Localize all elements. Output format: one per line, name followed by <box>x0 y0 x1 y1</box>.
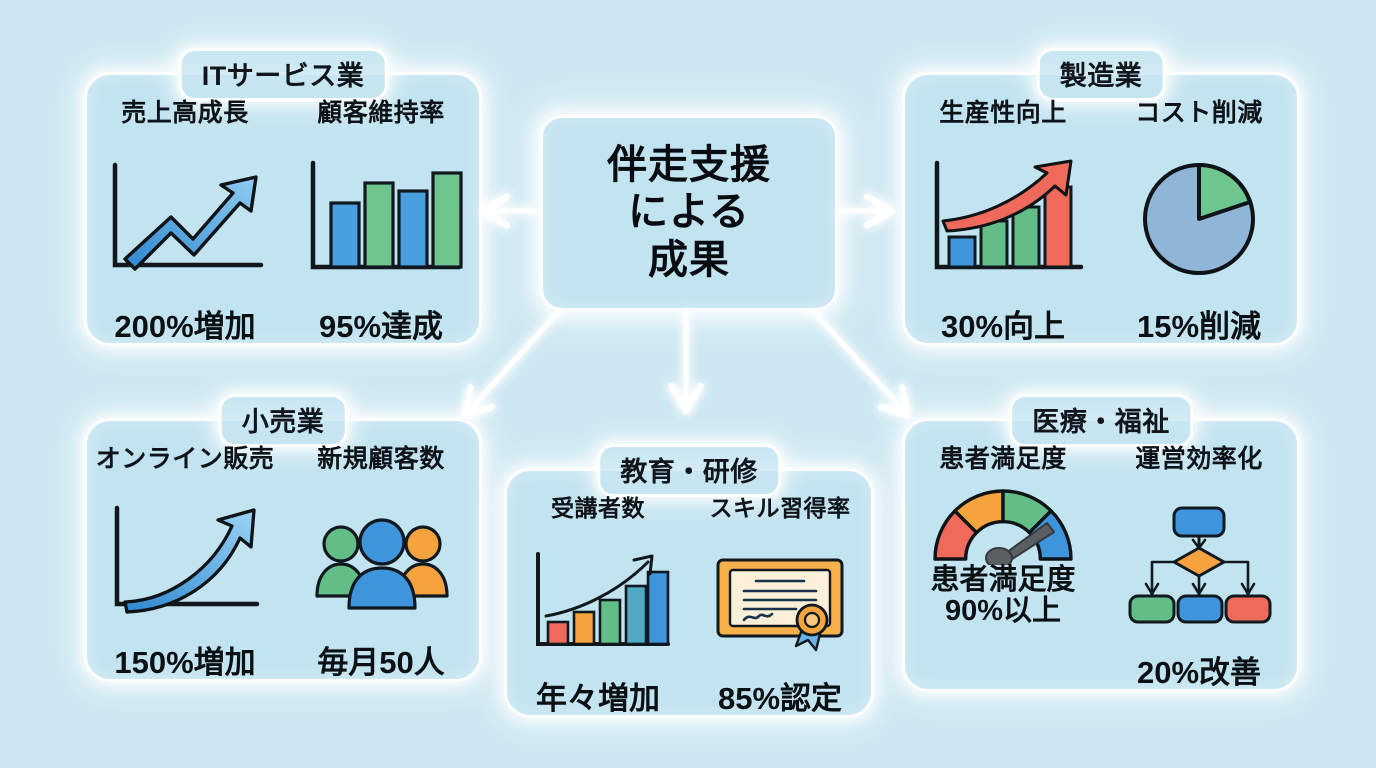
metric-skill-acquisition: スキル習得率 <box>689 471 871 715</box>
zigzag-up-arrow-line-chart-icon <box>87 129 283 310</box>
metric-new-customers: 新規顧客数 <box>283 421 479 679</box>
metric-label-operational-efficiency: 運営効率化 <box>1135 439 1263 475</box>
certificate-award-icon <box>689 523 871 682</box>
infographic-canvas: 伴走支援 による 成果 ITサービス業 売上高成長 <box>0 0 1376 768</box>
panel-healthcare[interactable]: 医療・福祉 患者満足度 <box>902 418 1300 692</box>
panel-manufacturing[interactable]: 製造業 生産性向上 30%向上 コスト削減 <box>902 72 1300 346</box>
metric-value-patient-satisfaction-line1: 患者満足度 <box>930 564 1075 596</box>
metric-operational-efficiency: 運営効率化 <box>1101 421 1297 689</box>
curved-up-arrow-line-chart-icon <box>87 475 283 646</box>
metric-customer-retention: 顧客維持率 95%達成 <box>283 75 479 343</box>
arrow-to-retail <box>468 310 560 412</box>
metric-label-new-customers: 新規顧客数 <box>317 439 445 475</box>
arrow-to-healthcare <box>812 310 905 412</box>
metric-label-online-sales: オンライン販売 <box>96 439 275 475</box>
metric-value-customer-retention: 95%達成 <box>319 310 443 343</box>
gauge-meter-icon <box>905 475 1101 565</box>
panel-education[interactable]: 教育・研修 受講者数 年々増加 <box>504 468 874 718</box>
people-group-icon <box>283 475 479 646</box>
metric-label-patient-satisfaction: 患者満足度 <box>939 439 1067 475</box>
metric-online-sales: オンライン販売 150%増加 <box>87 421 283 679</box>
rising-bar-chart-icon <box>507 523 689 682</box>
metric-value-sales-growth: 200%増加 <box>114 310 255 343</box>
metric-label-cost-reduction: コスト削減 <box>1135 93 1263 129</box>
metric-label-customer-retention: 顧客維持率 <box>317 93 445 129</box>
panel-it-services[interactable]: ITサービス業 売上高成長 200%増加 <box>84 72 482 346</box>
metric-value-online-sales: 150%増加 <box>114 646 255 679</box>
metric-value-patient-satisfaction-line2: 90%以上 <box>945 595 1061 627</box>
growth-bar-chart-with-red-arrow-icon <box>905 129 1101 310</box>
center-node: 伴走支援 による 成果 <box>540 115 838 311</box>
center-line-2: による <box>628 189 750 236</box>
metric-trainees: 受講者数 年々増加 <box>507 471 689 715</box>
metric-label-sales-growth: 売上高成長 <box>121 93 249 129</box>
metric-value-operational-efficiency: 20%改善 <box>1137 656 1261 689</box>
metric-label-skill-acquisition: スキル習得率 <box>710 489 851 523</box>
metric-patient-satisfaction: 患者満足度 患者満足度 90%以上 <box>905 421 1101 689</box>
metric-label-productivity: 生産性向上 <box>939 93 1067 129</box>
metric-label-trainees: 受講者数 <box>551 489 645 523</box>
metric-value-patient-satisfaction: 患者満足度 90%以上 <box>930 565 1075 628</box>
metric-value-cost-reduction: 15%削減 <box>1137 310 1261 343</box>
flowchart-icon <box>1101 475 1297 656</box>
metric-value-new-customers: 毎月50人 <box>317 646 444 679</box>
center-line-3: 成果 <box>648 237 730 284</box>
metric-value-skill-acquisition: 85%認定 <box>718 682 842 715</box>
metric-productivity: 生産性向上 30%向上 <box>905 75 1101 343</box>
metric-sales-growth: 売上高成長 200%増加 <box>87 75 283 343</box>
metric-cost-reduction: コスト削減 15%削減 <box>1101 75 1297 343</box>
panel-retail[interactable]: 小売業 オンライン販売 150%増加 <box>84 418 482 682</box>
metric-value-productivity: 30%向上 <box>941 310 1065 343</box>
center-line-1: 伴走支援 <box>607 142 771 189</box>
metric-value-trainees: 年々増加 <box>536 682 660 715</box>
pie-chart-icon <box>1101 129 1297 310</box>
bar-chart-icon <box>283 129 479 310</box>
